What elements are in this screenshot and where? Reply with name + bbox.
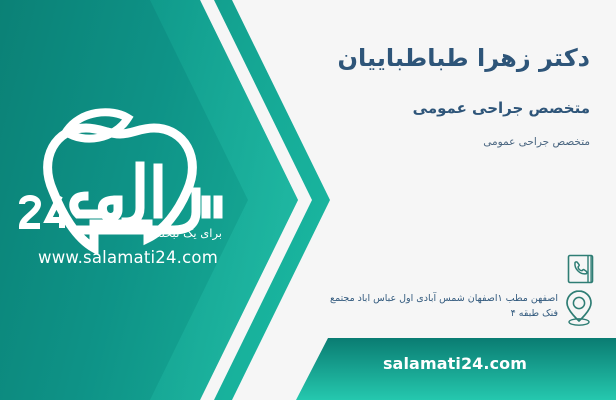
info-column: دکتر زهرا طباطباییان متخصص جراحی عمومی م… <box>310 0 616 340</box>
logo-tagline: برای یک لبخند <box>156 226 222 240</box>
address-row[interactable]: اصفهن مطب ۱اصفهان شمس آبادی اول عباس ابا… <box>318 288 602 328</box>
logo-url: www.salamati24.com <box>8 248 248 267</box>
doctor-name: دکتر زهرا طباطباییان <box>338 44 590 72</box>
phone-row[interactable] <box>554 252 598 286</box>
footer-bar: salamati24.com <box>0 338 616 400</box>
doctor-specialty-subtitle: متخصص جراحی عمومی <box>483 136 590 148</box>
address-text: اصفهن مطب ۱اصفهان شمس آبادی اول عباس ابا… <box>318 288 558 321</box>
phone-book-icon <box>564 252 598 286</box>
doctor-specialty: متخصص جراحی عمومی <box>413 99 590 117</box>
address-icon-wrap <box>558 288 598 328</box>
footer-url: salamati24.com <box>330 354 580 373</box>
location-pin-icon <box>560 288 598 328</box>
salamati24-logo: برای یک لبخند www.salamati24.com <box>8 96 248 281</box>
business-card: برای یک لبخند www.salamati24.com دکتر زه… <box>0 0 616 400</box>
